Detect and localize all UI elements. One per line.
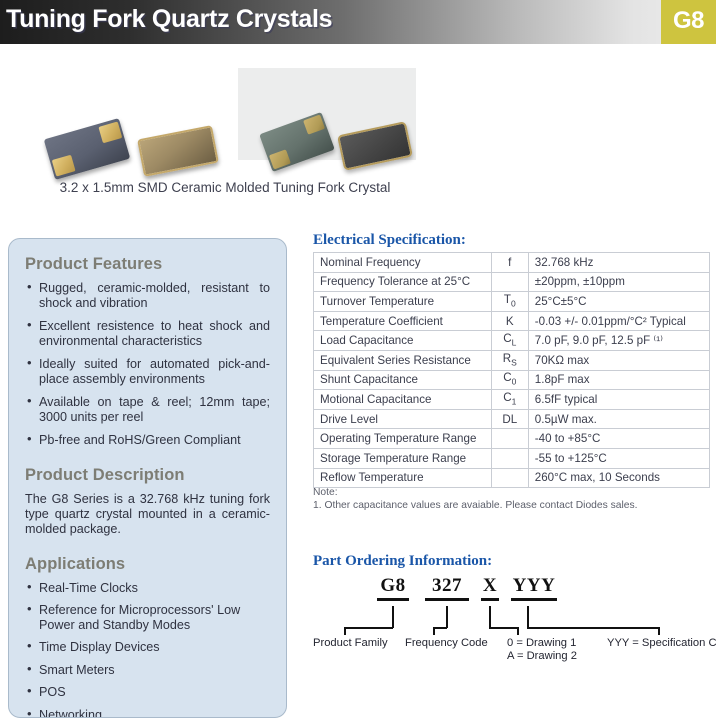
product-features-heading: Product Features (25, 255, 270, 274)
page-header: Tuning Fork Quartz Crystals G8 (0, 0, 716, 44)
leader-line (489, 606, 491, 628)
table-row: Equivalent Series ResistanceRS70KΩ max (314, 350, 710, 370)
ordering-label-family: Product Family (313, 637, 388, 650)
applications-list: Real-Time Clocks Reference for Microproc… (25, 581, 270, 718)
spec-value: 1.8pF max (528, 370, 709, 390)
spec-value: 25°C±5°C (528, 292, 709, 312)
spec-value: -40 to +85°C (528, 429, 709, 449)
ordering-code-drawing: X (481, 575, 499, 601)
spec-value: 0.5µW max. (528, 409, 709, 429)
spec-symbol (491, 429, 528, 449)
spec-symbol: C1 (491, 390, 528, 410)
spec-symbol: DL (491, 409, 528, 429)
spec-value: 32.768 kHz (528, 253, 709, 273)
leader-line (446, 606, 448, 628)
list-item: Smart Meters (25, 663, 270, 678)
leader-line (433, 627, 435, 635)
spec-symbol: RS (491, 350, 528, 370)
spec-symbol: C0 (491, 370, 528, 390)
ordering-label-drawing-2: A = Drawing 2 (507, 650, 577, 663)
leader-line (489, 627, 518, 629)
spec-parameter: Load Capacitance (314, 331, 492, 351)
spec-parameter: Temperature Coefficient (314, 311, 492, 331)
table-row: Operating Temperature Range-40 to +85°C (314, 429, 710, 449)
leader-line (433, 627, 447, 629)
table-row: Temperature CoefficientK-0.03 +/- 0.01pp… (314, 311, 710, 331)
product-description-text: The G8 Series is a 32.768 kHz tuning for… (25, 492, 270, 537)
crystal-photo-1 (44, 118, 131, 180)
series-badge-label: G8 (661, 7, 716, 35)
leader-line (392, 606, 394, 628)
photo-caption: 3.2 x 1.5mm SMD Ceramic Molded Tuning Fo… (0, 180, 450, 195)
list-item: POS (25, 685, 270, 700)
list-item: Available on tape & reel; 12mm tape; 300… (25, 395, 270, 424)
crystal-body (137, 125, 219, 177)
spec-parameter: Nominal Frequency (314, 253, 492, 273)
part-ordering-heading: Part Ordering Information: (313, 553, 492, 570)
spec-value: 260°C max, 10 Seconds (528, 468, 709, 488)
leader-line (527, 606, 529, 628)
spec-parameter: Storage Temperature Range (314, 448, 492, 468)
crystal-photo-2 (137, 125, 219, 177)
ordering-label-frequency: Frequency Code (405, 637, 488, 650)
table-row: Nominal Frequencyf32.768 kHz (314, 253, 710, 273)
table-row: Shunt CapacitanceC01.8pF max (314, 370, 710, 390)
table-row: Load CapacitanceCL7.0 pF, 9.0 pF, 12.5 p… (314, 331, 710, 351)
list-item: Ideally suited for automated pick-and-pl… (25, 357, 270, 386)
spec-parameter: Equivalent Series Resistance (314, 350, 492, 370)
note-label: Note: (313, 487, 638, 500)
spec-value: 6.5fF typical (528, 390, 709, 410)
list-item: Pb-free and RoHS/Green Compliant (25, 433, 270, 448)
spec-parameter: Operating Temperature Range (314, 429, 492, 449)
list-item: Rugged, ceramic-molded, resistant to sho… (25, 281, 270, 310)
spec-parameter: Frequency Tolerance at 25°C (314, 272, 492, 292)
leader-line (517, 627, 519, 635)
spec-symbol: T0 (491, 292, 528, 312)
spec-symbol (491, 272, 528, 292)
spec-symbol: K (491, 311, 528, 331)
spec-parameter: Turnover Temperature (314, 292, 492, 312)
spec-parameter: Drive Level (314, 409, 492, 429)
spec-symbol: f (491, 253, 528, 273)
leader-line (527, 627, 659, 629)
spec-parameter: Reflow Temperature (314, 468, 492, 488)
ordering-label-drawing-1: 0 = Drawing 1 (507, 637, 576, 650)
spec-parameter: Motional Capacitance (314, 390, 492, 410)
part-ordering-diagram: G8 327 X YYY Product Family Frequency Co… (313, 575, 713, 665)
spec-symbol: CL (491, 331, 528, 351)
list-item: Real-Time Clocks (25, 581, 270, 596)
applications-heading: Applications (25, 555, 270, 574)
spec-value: 7.0 pF, 9.0 pF, 12.5 pF ⁽¹⁾ (528, 331, 709, 351)
spec-value: -55 to +125°C (528, 448, 709, 468)
page-title: Tuning Fork Quartz Crystals (6, 5, 332, 34)
table-row: Storage Temperature Range-55 to +125°C (314, 448, 710, 468)
spec-value: -0.03 +/- 0.01ppm/°C² Typical (528, 311, 709, 331)
ordering-label-spec: YYY = Specification Code (607, 637, 716, 650)
spec-value: ±20ppm, ±10ppm (528, 272, 709, 292)
electrical-specification-table: Nominal Frequencyf32.768 kHzFrequency To… (313, 252, 710, 488)
product-photo-area: 3.2 x 1.5mm SMD Ceramic Molded Tuning Fo… (0, 44, 716, 194)
spec-symbol (491, 468, 528, 488)
list-item: Time Display Devices (25, 640, 270, 655)
left-info-panel: Product Features Rugged, ceramic-molded,… (8, 238, 287, 718)
table-row: Motional CapacitanceC16.5fF typical (314, 390, 710, 410)
note-text: 1. Other capacitance values are avaiable… (313, 500, 638, 513)
ordering-code-family: G8 (377, 575, 409, 601)
product-features-list: Rugged, ceramic-molded, resistant to sho… (25, 281, 270, 448)
list-item: Reference for Microprocessors' Low Power… (25, 603, 270, 632)
leader-line (344, 627, 346, 635)
spec-value: 70KΩ max (528, 350, 709, 370)
leader-line (344, 627, 393, 629)
spec-parameter: Shunt Capacitance (314, 370, 492, 390)
leader-line (658, 627, 660, 635)
product-description-heading: Product Description (25, 466, 270, 485)
list-item: Excellent resistence to heat shock and e… (25, 319, 270, 348)
table-row: Drive LevelDL 0.5µW max. (314, 409, 710, 429)
table-row: Reflow Temperature260°C max, 10 Seconds (314, 468, 710, 488)
table-row: Turnover TemperatureT025°C±5°C (314, 292, 710, 312)
ordering-code-spec: YYY (511, 575, 557, 601)
electrical-specification-heading: Electrical Specification: (313, 232, 466, 249)
ordering-code-frequency: 327 (425, 575, 469, 601)
table-row: Frequency Tolerance at 25°C±20ppm, ±10pp… (314, 272, 710, 292)
spec-symbol (491, 448, 528, 468)
spec-note: Note: 1. Other capacitance values are av… (313, 487, 638, 512)
series-badge: G8 (661, 0, 716, 44)
